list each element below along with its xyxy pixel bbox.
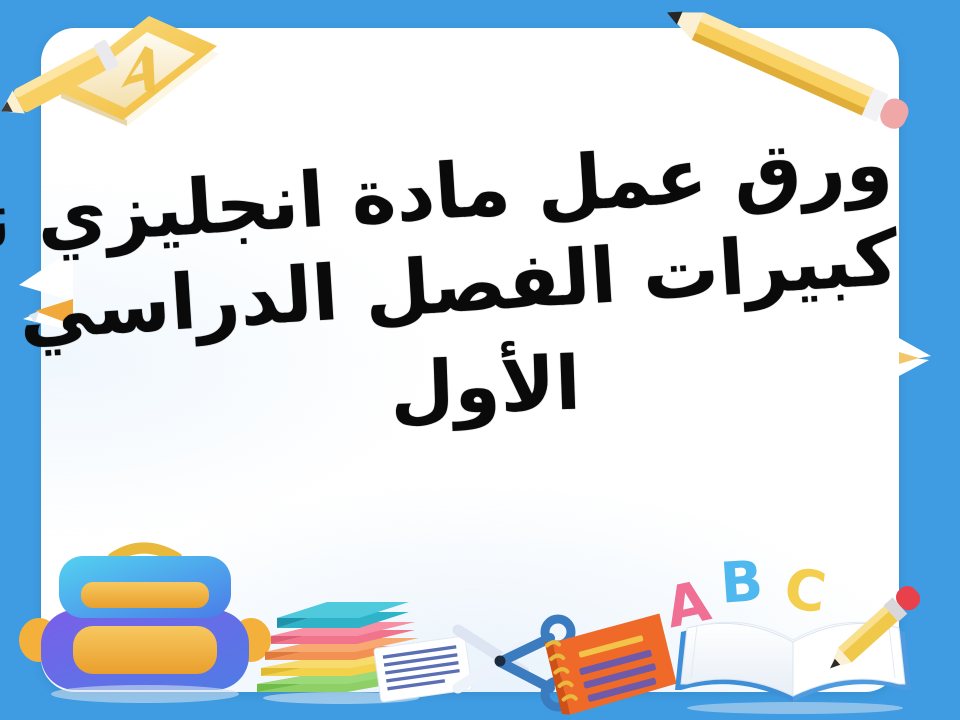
spiral-notebook-icon xyxy=(540,618,680,714)
pencil-bottom-right-icon xyxy=(828,578,938,668)
slide-canvas: A B C xyxy=(0,0,960,720)
book-with-letter-a-icon xyxy=(4,2,234,132)
backpack-icon xyxy=(22,528,270,708)
pencil-top-right-icon xyxy=(655,10,925,130)
worksheet-title: ورق عمل مادة انجليزي ثاني كبيرات الفصل ا… xyxy=(52,114,909,462)
